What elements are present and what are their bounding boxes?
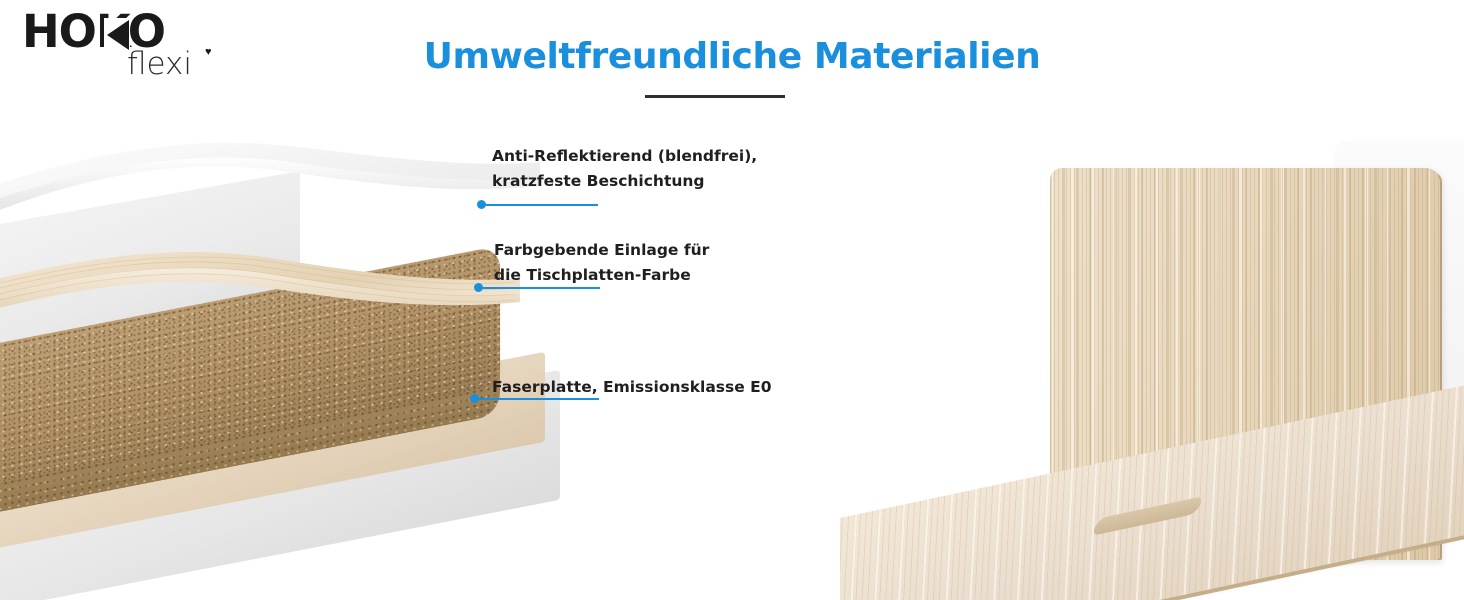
leader-dot [474,283,483,292]
layer-colour-veneer-sheet [0,250,520,346]
layer-coating-sheet [0,140,540,250]
callout-colour-inlay: Farbgebende Einlage für die Tischplatten… [494,238,709,288]
tabletop-layer-exploded-diagram [0,130,560,600]
callout-text-line2: die Tischplatten-Farbe [494,263,709,288]
leader-line [474,398,599,400]
desk-with-back-panel-photo [840,120,1464,600]
callout-fibreboard-core: Faserplatte, Emissionsklasse E0 [492,375,772,400]
callout-anti-reflective-coating: Anti-Reflektierend (blendfrei), kratzfes… [492,144,757,194]
leader-dot [477,200,486,209]
leader-line [478,287,600,289]
leader-dot [470,394,479,403]
callout-text-line2: kratzfeste Beschichtung [492,169,757,194]
callout-text-line1: Faserplatte, Emissionsklasse E0 [492,375,772,400]
page-title: Umweltfreundliche Materialien [0,36,1464,77]
leader-line [481,204,598,206]
callout-text-line1: Farbgebende Einlage für [494,238,709,263]
callout-text-line1: Anti-Reflektierend (blendfrei), [492,144,757,169]
title-divider [645,95,785,98]
